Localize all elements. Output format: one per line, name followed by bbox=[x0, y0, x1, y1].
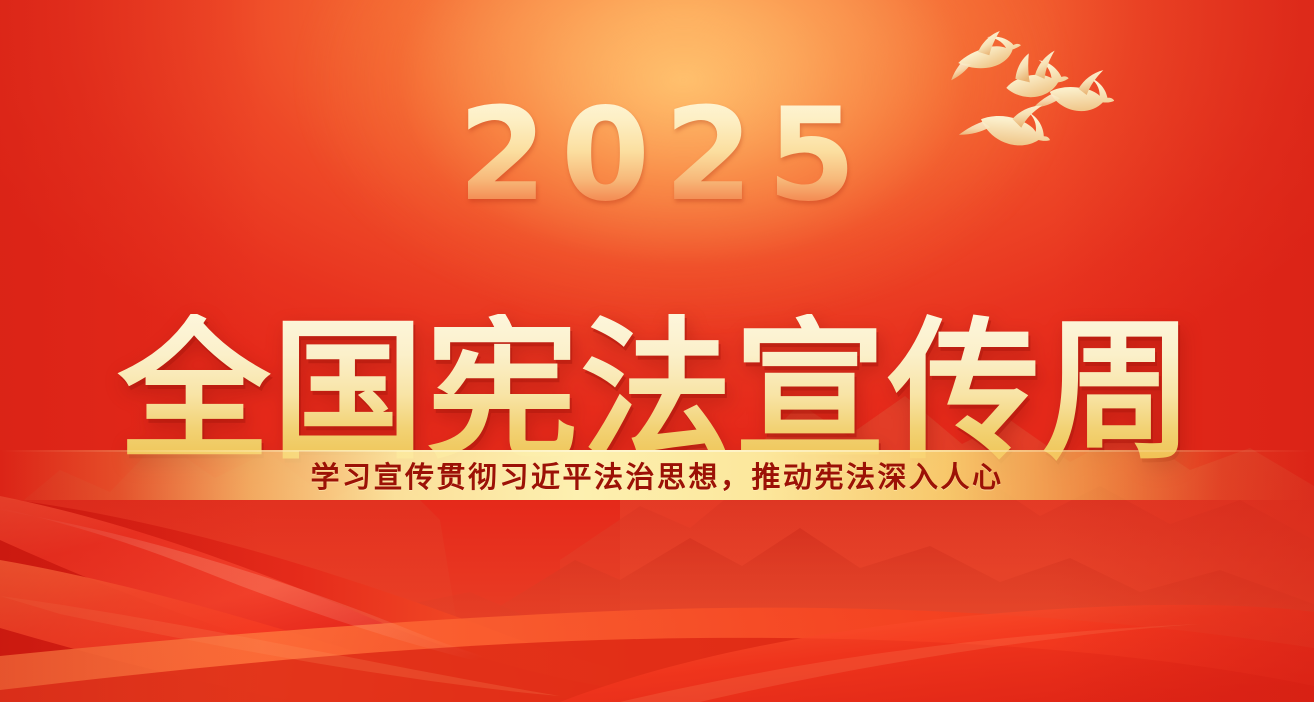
dove-icon-1 bbox=[943, 27, 1025, 80]
year-heading: 2025 bbox=[0, 92, 1314, 220]
constitution-week-poster: 2025 全国宪法宣传周 学习宣传贯彻习近平法治思想，推动宪法深入人心 bbox=[0, 0, 1314, 702]
page-title: 全国宪法宣传周 bbox=[0, 314, 1314, 469]
subtitle-text: 学习宣传贯彻习近平法治思想，推动宪法深入人心 bbox=[0, 451, 1314, 499]
